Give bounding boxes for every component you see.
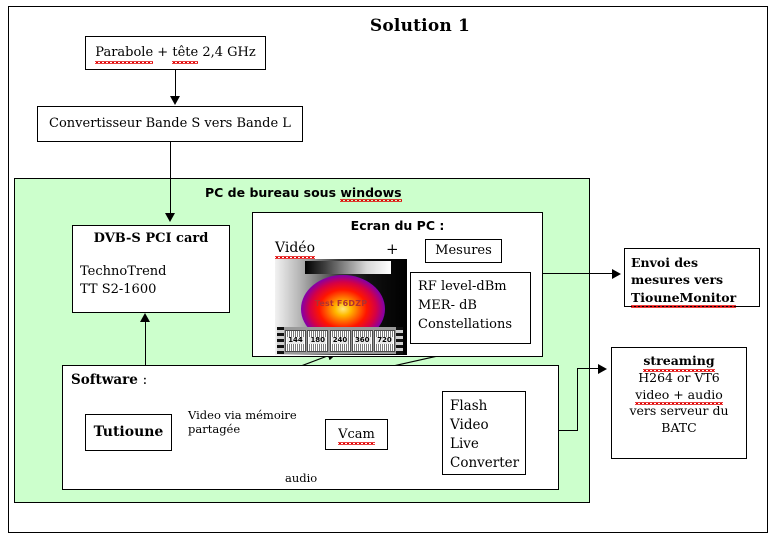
node-dvbs-line2: TT S2-1600	[80, 281, 229, 299]
edge-label-audio: audio	[285, 471, 317, 485]
edge-parabole-convertisseur-arrow	[170, 96, 180, 105]
edge-streaming-riser	[577, 368, 578, 431]
page-title: Solution 1	[330, 16, 510, 36]
software-region-label: Software :	[71, 372, 147, 390]
plus-sign: +	[386, 240, 399, 260]
measurement-item: RF level-dBm	[418, 278, 523, 297]
pc-desktop-region-label: PC de bureau sous windows	[205, 185, 402, 200]
filmstrip-cell-label: 720	[376, 337, 393, 344]
node-measurements-list[interactable]: RF level-dBm MER- dB Constellations	[410, 272, 531, 344]
filmstrip-cells: 144 180 240 360 720	[284, 327, 396, 354]
filmstrip-cell-label: 144	[287, 337, 304, 344]
node-convertisseur-label: Convertisseur Bande S vers Bande L	[49, 115, 291, 132]
node-mesures-label: Mesures	[435, 242, 492, 259]
flash-line: Flash	[450, 397, 518, 416]
edge-ecran-envoi-line	[543, 273, 615, 274]
testpattern-grayscale-bar	[305, 261, 391, 274]
node-dvbs-line1: TechnoTrend	[80, 263, 229, 281]
flash-line: Live	[450, 435, 518, 454]
flash-line: Converter	[450, 454, 518, 473]
node-dvbs-pci-card[interactable]: DVB-S PCI card TechnoTrend TT S2-1600	[72, 225, 230, 313]
edge-parabole-convertisseur-line	[175, 70, 176, 98]
filmstrip-cell-label: 240	[332, 337, 349, 344]
filmstrip-cell: 240	[330, 330, 351, 352]
edge-dvbs-tutioune-arrow-up	[140, 313, 150, 322]
filmstrip-perforation-left	[277, 327, 284, 354]
edge-label-video-memoire: Video via mémoire partagée	[188, 408, 297, 437]
node-tutioune[interactable]: Tutioune	[85, 414, 172, 451]
edge-streaming-arrow	[598, 364, 607, 374]
spellcheck-underline: windows	[340, 185, 401, 200]
flash-line: Video	[450, 416, 518, 435]
filmstrip-cell: 180	[307, 330, 328, 352]
filmstrip-cell-label: 360	[354, 337, 371, 344]
envoi-line: mesures vers	[631, 271, 753, 288]
node-convertisseur[interactable]: Convertisseur Bande S vers Bande L	[37, 106, 303, 142]
node-tutioune-label: Tutioune	[94, 423, 164, 441]
node-flash-video-live-converter[interactable]: Flash Video Live Converter	[442, 391, 526, 475]
testpattern-caption: Test F6DZP	[275, 299, 407, 310]
filmstrip-cell-label: 180	[309, 337, 326, 344]
node-streaming[interactable]: streaming H264 or VT6 video + audio vers…	[611, 347, 747, 459]
video-testpattern-image: Test F6DZP 144 180 240 360 720	[275, 259, 407, 355]
edge-convertisseur-dvbs-line	[170, 142, 171, 215]
node-ecran-title: Ecran du PC :	[253, 218, 542, 235]
node-vcam[interactable]: Vcam	[325, 419, 388, 450]
filmstrip-cell: 720	[374, 330, 395, 352]
node-parabole[interactable]: Parabole + tête 2,4 GHz	[85, 36, 266, 70]
streaming-line: H264 or VT6	[616, 370, 742, 387]
envoi-line: Envoi des	[631, 254, 753, 271]
testpattern-filmstrip: 144 180 240 360 720	[277, 327, 403, 354]
envoi-line: TiouneMonitor	[631, 289, 753, 306]
streaming-line: vers serveur du	[616, 403, 742, 420]
filmstrip-cell: 360	[352, 330, 373, 352]
video-label: Vidéo	[275, 239, 315, 257]
node-dvbs-title: DVB-S PCI card	[73, 230, 229, 247]
streaming-line: BATC	[616, 420, 742, 437]
streaming-line: video + audio	[616, 387, 742, 404]
streaming-heading: streaming	[616, 353, 742, 370]
node-mesures[interactable]: Mesures	[425, 239, 502, 263]
filmstrip-cell: 144	[285, 330, 306, 352]
measurement-item: Constellations	[418, 316, 523, 335]
edge-ecran-envoi-arrow	[612, 269, 621, 279]
node-envoi-mesures[interactable]: Envoi des mesures vers TiouneMonitor	[624, 248, 760, 307]
node-parabole-label: Parabole + tête 2,4 GHz	[95, 44, 255, 61]
diagram-canvas: Solution 1 PC de bureau sous windows Pa	[0, 0, 778, 547]
measurement-item: MER- dB	[418, 297, 523, 316]
filmstrip-perforation-right	[396, 327, 403, 354]
node-vcam-label: Vcam	[338, 426, 375, 443]
edge-convertisseur-dvbs-arrow	[165, 213, 175, 222]
